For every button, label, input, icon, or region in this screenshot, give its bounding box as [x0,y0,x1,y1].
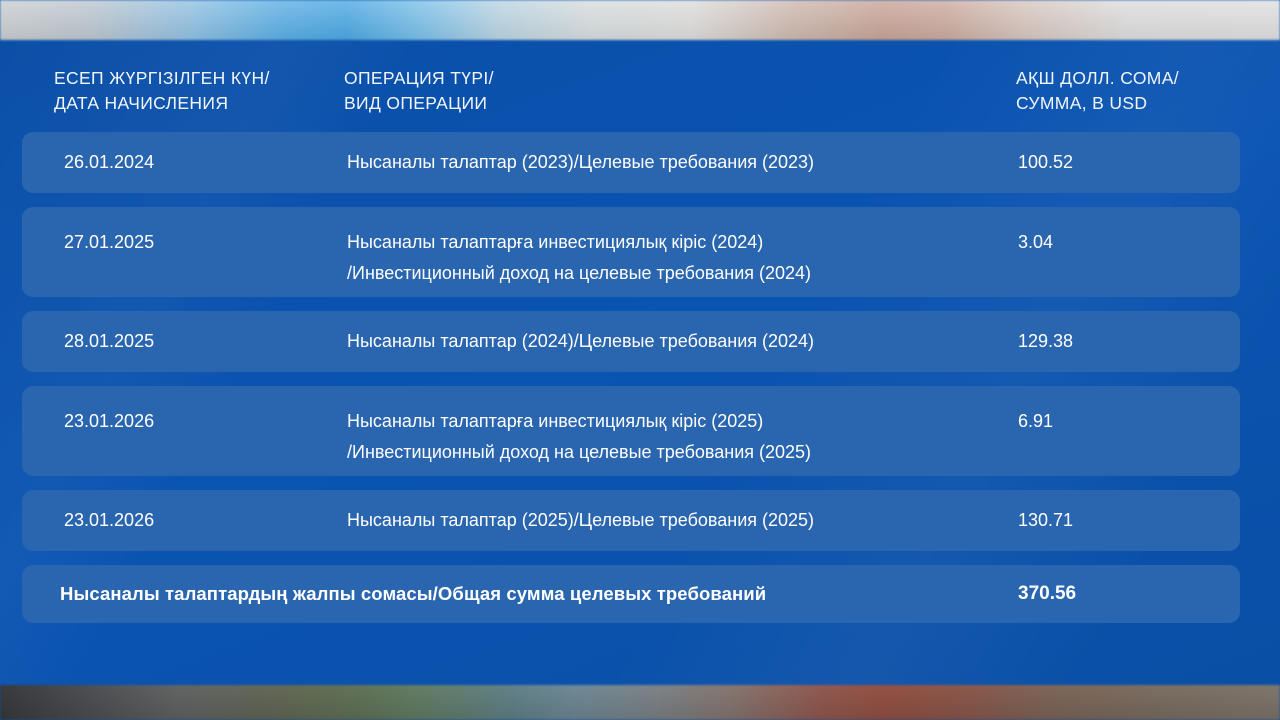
column-header-operation: ОПЕРАЦИЯ ТҮРІ/ ВИД ОПЕРАЦИИ [344,66,994,116]
total-label: Нысаналы талаптардың жалпы сомасы/Общая … [22,583,994,605]
cell-operation: Нысаналы талаптарға инвестициялық кіріс … [344,386,994,468]
cell-operation: Нысаналы талаптарға инвестициялық кіріс … [344,207,994,289]
table-row: 23.01.2026 Нысаналы талаптарға инвестици… [22,386,1240,476]
cell-date: 28.01.2025 [22,326,344,357]
cell-date: 23.01.2026 [22,505,344,536]
table-header-row: ЕСЕП ЖҮРГІЗІЛГЕН КҮН/ ДАТА НАЧИСЛЕНИЯ ОП… [22,38,1240,132]
cell-date: 27.01.2025 [22,207,344,258]
cell-amount: 129.38 [994,326,1240,357]
slide-body: ЕСЕП ЖҮРГІЗІЛГЕН КҮН/ ДАТА НАЧИСЛЕНИЯ ОП… [0,38,1280,686]
cell-amount: 3.04 [994,207,1240,258]
top-blurred-strip [0,0,1280,40]
cell-operation: Нысаналы талаптар (2025)/Целевые требова… [344,505,994,536]
bottom-blurred-strip [0,685,1280,720]
cell-date: 23.01.2026 [22,386,344,437]
payout-table: ЕСЕП ЖҮРГІЗІЛГЕН КҮН/ ДАТА НАЧИСЛЕНИЯ ОП… [22,38,1240,623]
table-row: 27.01.2025 Нысаналы талаптарға инвестици… [22,207,1240,297]
table-total-row: Нысаналы талаптардың жалпы сомасы/Общая … [22,565,1240,623]
table-row: 23.01.2026 Нысаналы талаптар (2025)/Целе… [22,490,1240,551]
table-row: 28.01.2025 Нысаналы талаптар (2024)/Целе… [22,311,1240,372]
cell-amount: 130.71 [994,505,1240,536]
column-header-date: ЕСЕП ЖҮРГІЗІЛГЕН КҮН/ ДАТА НАЧИСЛЕНИЯ [22,66,344,116]
cell-amount: 6.91 [994,386,1240,437]
table-row: 26.01.2024 Нысаналы талаптар (2023)/Целе… [22,132,1240,193]
column-header-amount: АҚШ ДОЛЛ. СОМА/ СУММА, В USD [994,66,1240,116]
cell-operation: Нысаналы талаптар (2023)/Целевые требова… [344,147,994,178]
total-amount: 370.56 [994,583,1240,605]
cell-amount: 100.52 [994,147,1240,178]
cell-date: 26.01.2024 [22,147,344,178]
cell-operation: Нысаналы талаптар (2024)/Целевые требова… [344,326,994,357]
